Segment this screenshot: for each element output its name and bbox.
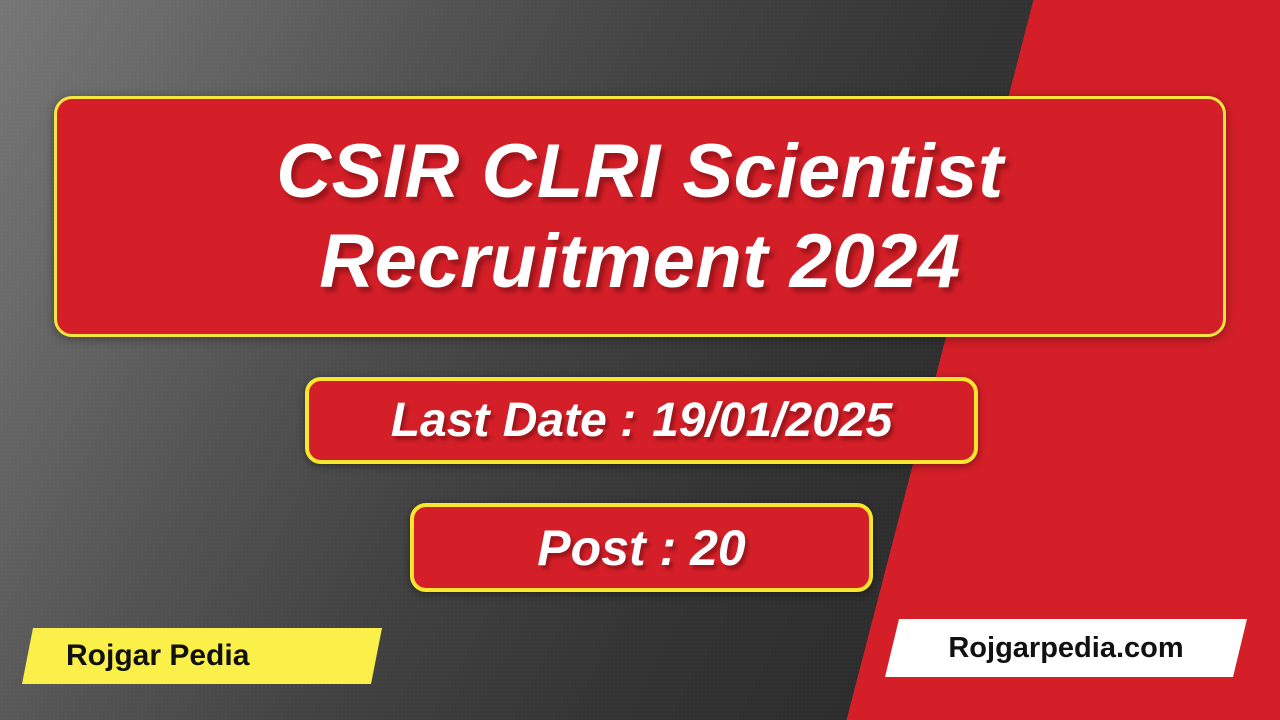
last-date-badge: Last Date :19/01/2025	[305, 377, 978, 464]
recruitment-poster: CSIR CLRI Scientist Recruitment 2024 Las…	[0, 0, 1280, 720]
page-title-line-2: Recruitment 2024	[319, 217, 961, 307]
post-count-badge: Post : 20	[410, 503, 873, 592]
post-count-text: Post : 20	[537, 519, 745, 577]
brand-tag-label: Rojgar Pedia	[22, 639, 249, 673]
title-banner: CSIR CLRI Scientist Recruitment 2024	[54, 96, 1226, 337]
website-tag: Rojgarpedia.com	[885, 619, 1247, 677]
last-date-label: Last Date :	[391, 394, 636, 447]
last-date-text: Last Date :19/01/2025	[391, 393, 893, 448]
last-date-value: 19/01/2025	[652, 394, 892, 447]
website-tag-label: Rojgarpedia.com	[948, 632, 1183, 665]
page-title-line-1: CSIR CLRI Scientist	[276, 127, 1003, 217]
brand-tag: Rojgar Pedia	[22, 628, 382, 684]
